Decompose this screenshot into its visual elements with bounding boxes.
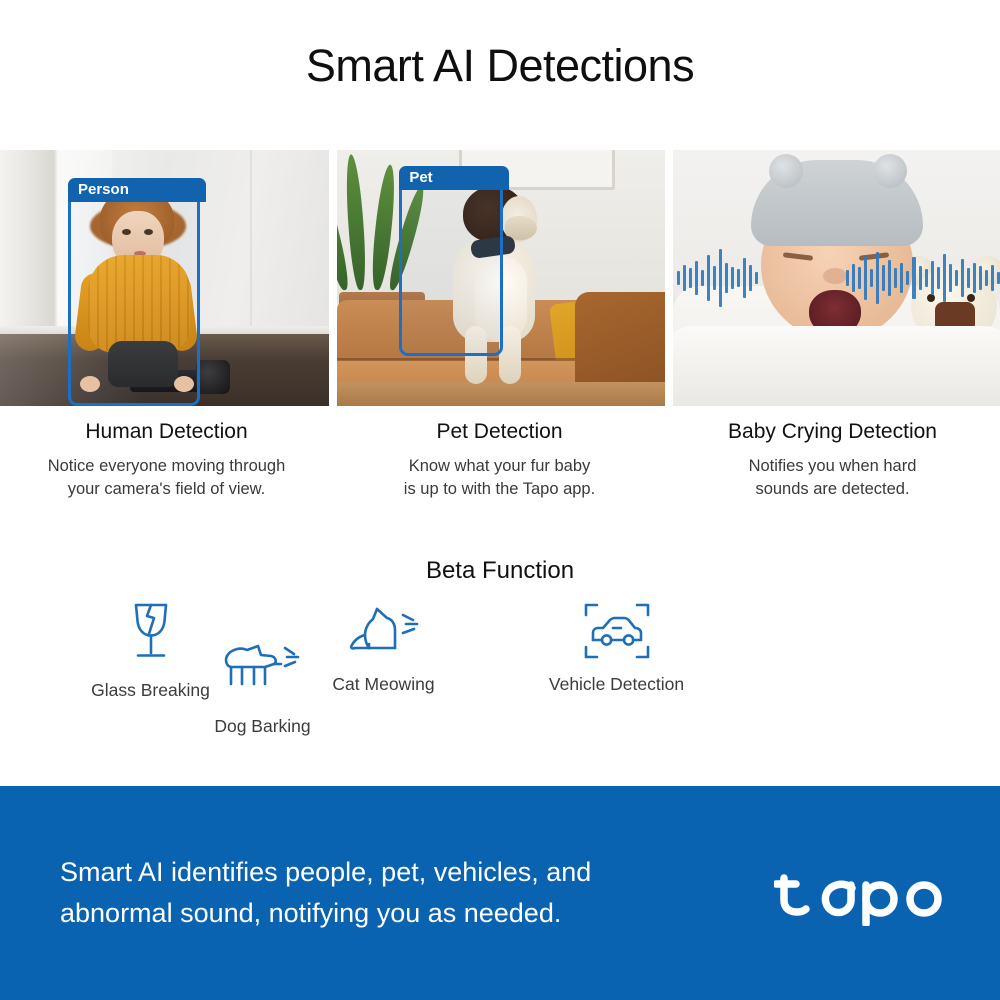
waveform-bar [731,267,734,289]
tapo-logo [774,862,944,926]
feature-caption-row: Human Detection Notice everyone moving t… [0,420,1000,502]
pet-detection-label: Pet [399,166,509,190]
caption-title: Pet Detection [333,420,666,444]
waveform-bar [991,265,994,291]
beta-label: Dog Barking [146,716,379,737]
waveform-bar [955,270,958,286]
caption-description: Know what your fur baby is up to with th… [333,455,666,502]
waveform-bar [743,258,746,298]
waveform-bar [713,266,716,290]
vehicle-detection-icon [500,598,733,664]
waveform-bar [846,270,849,286]
waveform-bar [864,256,867,300]
audio-waveform-overlay [673,245,1000,311]
caption-description: Notice everyone moving through your came… [0,455,333,502]
pet-detection-box: Pet [399,166,503,356]
waveform-bar [937,267,940,289]
beta-item-vehicle-detection: Vehicle Detection [500,598,733,701]
marketing-page: Smart AI Detections [0,0,1000,1000]
waveform-bar [701,270,704,286]
waveform-bar [755,272,758,284]
caption-title: Baby Crying Detection [666,420,999,444]
beta-function-row: Glass Breaking Dog Barking [34,598,966,701]
waveform-bar [719,249,722,307]
caption-line-2: is up to with the Tapo app. [333,478,666,501]
waveform-bar [888,260,891,296]
caption-title: Human Detection [0,420,333,444]
waveform-bar [931,261,934,295]
waveform-bar [876,252,879,304]
waveform-bar [882,265,885,291]
waveform-bar [906,271,909,285]
caption-line-2: sounds are detected. [666,478,999,501]
waveform-bar [949,264,952,292]
feature-card-human-detection: Person [0,150,329,406]
waveform-bar [852,264,855,292]
waveform-bar [943,254,946,302]
person-detection-box: Person [68,178,200,406]
person-detection-label: Person [68,178,206,202]
waveform-bar [985,270,988,286]
waveform-bar [894,268,897,288]
footer-tagline: Smart AI identifies people, pet, vehicle… [60,852,700,934]
waveform-bar [870,269,873,287]
page-title: Smart AI Detections [0,40,1000,92]
waveform-bar [683,265,686,291]
caption-baby-crying-detection: Baby Crying Detection Notifies you when … [666,420,999,502]
beta-function-title: Beta Function [0,557,1000,585]
waveform-bar [725,263,728,293]
waveform-bar [689,268,692,288]
caption-pet-detection: Pet Detection Know what your fur baby is… [333,420,666,502]
feature-card-row: Person [0,150,1000,406]
caption-human-detection: Human Detection Notice everyone moving t… [0,420,333,502]
person-badge-text: Person [68,181,129,198]
pet-badge-text: Pet [399,169,432,186]
feature-card-baby-crying-detection [673,150,1000,406]
caption-line-2: your camera's field of view. [0,478,333,501]
waveform-bar [912,257,915,299]
waveform-bar [737,269,740,287]
footer-banner: Smart AI identifies people, pet, vehicle… [0,786,1000,1000]
waveform-bar [900,263,903,293]
dog-barking-icon [146,634,379,700]
caption-line-1: Know what your fur baby [333,455,666,478]
baby-crying-photo [673,150,1000,406]
feature-card-pet-detection: Pet [337,150,664,406]
beta-label: Vehicle Detection [500,674,733,695]
caption-line-1: Notice everyone moving through [0,455,333,478]
footer-tagline-line-1: Smart AI identifies people, pet, vehicle… [60,852,700,893]
waveform-bar [919,266,922,290]
waveform-bar [925,269,928,287]
waveform-bar [695,261,698,295]
waveform-bar [707,255,710,301]
footer-tagline-line-2: abnormal sound, notifying you as needed. [60,893,700,934]
waveform-bar [967,268,970,288]
waveform-bar [677,271,680,285]
waveform-bar [858,267,861,289]
waveform-bar [749,265,752,291]
waveform-bar [961,259,964,297]
caption-line-1: Notifies you when hard [666,455,999,478]
waveform-bar [973,263,976,293]
caption-description: Notifies you when hard sounds are detect… [666,455,999,502]
waveform-bar [979,266,982,290]
